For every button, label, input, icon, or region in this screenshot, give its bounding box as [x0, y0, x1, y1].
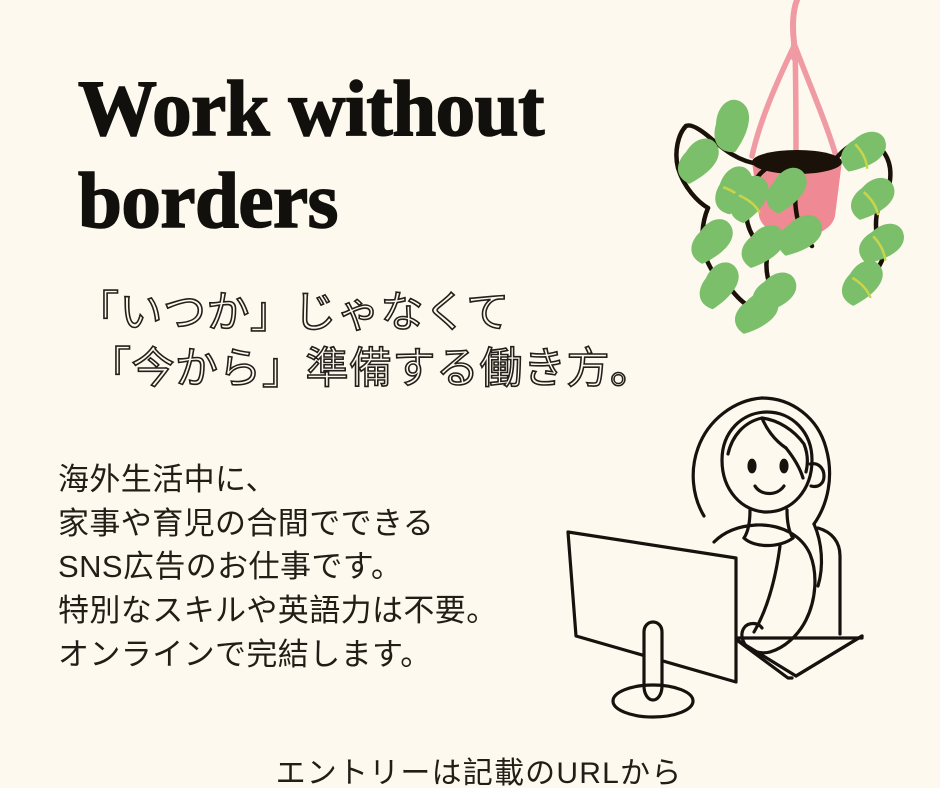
- leaf: [707, 163, 761, 218]
- monitor-screen: [568, 532, 736, 682]
- woman-at-computer-illustration: [556, 386, 940, 730]
- page-title: Work without borders: [78, 64, 638, 247]
- hair-fringe: [728, 418, 786, 454]
- leaf: [724, 173, 776, 225]
- leaf: [741, 224, 785, 269]
- poster-canvas: Work without borders 「いつか」じゃなくて 「今から」準備す…: [0, 0, 940, 788]
- pot-soil: [752, 150, 842, 174]
- leaf: [700, 94, 763, 158]
- body-line-2: 家事や育児の合間でできる: [58, 502, 578, 546]
- monitor-base: [613, 685, 693, 717]
- eye-left: [747, 459, 756, 474]
- monitor-stand: [644, 622, 662, 706]
- ear: [810, 464, 824, 487]
- body-line-3: SNS広告のお仕事です。: [58, 545, 578, 589]
- body-line-5: オンラインで完結します。: [58, 633, 578, 677]
- desk-surface: [734, 636, 862, 638]
- eye-right: [779, 459, 788, 474]
- leaf: [675, 137, 722, 185]
- leaf: [850, 176, 895, 222]
- headline-line-2: borders: [78, 156, 638, 248]
- body-line-4: 特別なスキルや英語力は不要。: [58, 589, 578, 633]
- subtitle-line-2: 「今から」準備する働き方。: [88, 342, 676, 398]
- entry-instruction: エントリーは記載のURLから: [0, 748, 940, 788]
- vine-left: [675, 94, 779, 336]
- mouth: [755, 486, 784, 494]
- vine-right: [832, 127, 906, 307]
- vine-center: [763, 164, 824, 260]
- face: [722, 412, 812, 512]
- leaf: [763, 166, 811, 215]
- leaf: [694, 260, 745, 311]
- leaf: [751, 270, 798, 318]
- leaf: [839, 127, 888, 177]
- hair-left: [693, 398, 762, 516]
- leaf: [776, 211, 824, 260]
- torso: [714, 525, 756, 542]
- headline-line-1: Work without: [78, 64, 638, 156]
- hanging-plant-illustration: [664, 0, 940, 326]
- plant-hanger-strings: [752, 0, 836, 162]
- leaf: [734, 290, 779, 336]
- subtitle: 「いつか」じゃなくて 「今から」準備する働き方。: [76, 286, 676, 398]
- subtitle-line-1: 「いつか」じゃなくて: [76, 286, 676, 342]
- vine-middle: [724, 166, 798, 317]
- leaf: [857, 219, 906, 269]
- body-line-1: 海外生活中に、: [58, 458, 578, 502]
- body-copy: 海外生活中に、 家事や育児の合間でできる SNS広告のお仕事です。 特別なスキル…: [58, 458, 578, 677]
- plant-pot: [752, 150, 842, 237]
- chair-back: [818, 528, 840, 634]
- hair-right: [762, 398, 830, 524]
- arm: [754, 546, 780, 632]
- leaf: [689, 218, 734, 264]
- neck: [744, 510, 750, 538]
- leaf: [839, 259, 886, 307]
